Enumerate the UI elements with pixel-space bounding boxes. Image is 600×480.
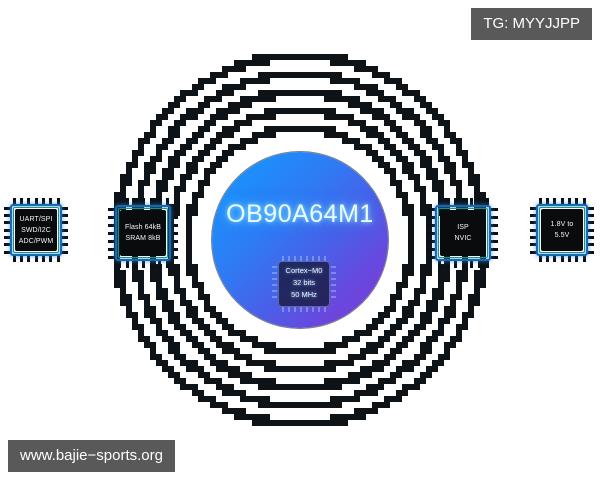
chip-label-line: ADC/PWM: [19, 236, 54, 247]
chip-memory[interactable]: Flash 64kBSRAM 8kB: [108, 198, 178, 268]
chip-label-line: UART/SPI: [20, 214, 53, 225]
chip-peripherals[interactable]: UART/SPISWD/I2CADC/PWM: [4, 198, 68, 262]
chip-label-line: 1.8V to: [551, 219, 574, 230]
cortex-core-chip[interactable]: Cortex−M032 bits50 MHz: [272, 256, 336, 312]
chip-body: 1.8V to5.5V: [541, 209, 583, 251]
chip-body: UART/SPISWD/I2CADC/PWM: [15, 209, 57, 251]
mcu-part-number: OB90A64M1: [212, 200, 388, 229]
cortex-chip-label: Cortex−M032 bits50 MHz: [272, 265, 336, 301]
chip-label-line: NVIC: [454, 233, 471, 244]
chip-label-line: ISP: [457, 222, 469, 233]
chip-label-line: 5.5V: [555, 230, 570, 241]
chip-label-line: SWD/I2C: [21, 225, 51, 236]
cortex-label-line: 50 MHz: [272, 289, 336, 301]
chip-label-line: SRAM 8kB: [125, 233, 160, 244]
diagram-canvas: OB90A64M1 Cortex−M032 bits50 MHz UART/SP…: [0, 0, 600, 480]
mcu-core-die[interactable]: OB90A64M1 Cortex−M032 bits50 MHz: [212, 152, 388, 328]
cortex-label-line: 32 bits: [272, 277, 336, 289]
watermark-site-badge: www.bajie−sports.org: [8, 440, 175, 472]
chip-isp-nvic[interactable]: ISPNVIC: [428, 198, 498, 268]
cortex-label-line: Cortex−M0: [272, 265, 336, 277]
chip-label-line: Flash 64kB: [125, 222, 161, 233]
watermark-tg-badge: TG: MYYJJPP: [471, 8, 592, 40]
chip-body: ISPNVIC: [440, 210, 486, 256]
chip-body: Flash 64kBSRAM 8kB: [120, 210, 166, 256]
chip-voltage[interactable]: 1.8V to5.5V: [530, 198, 594, 262]
